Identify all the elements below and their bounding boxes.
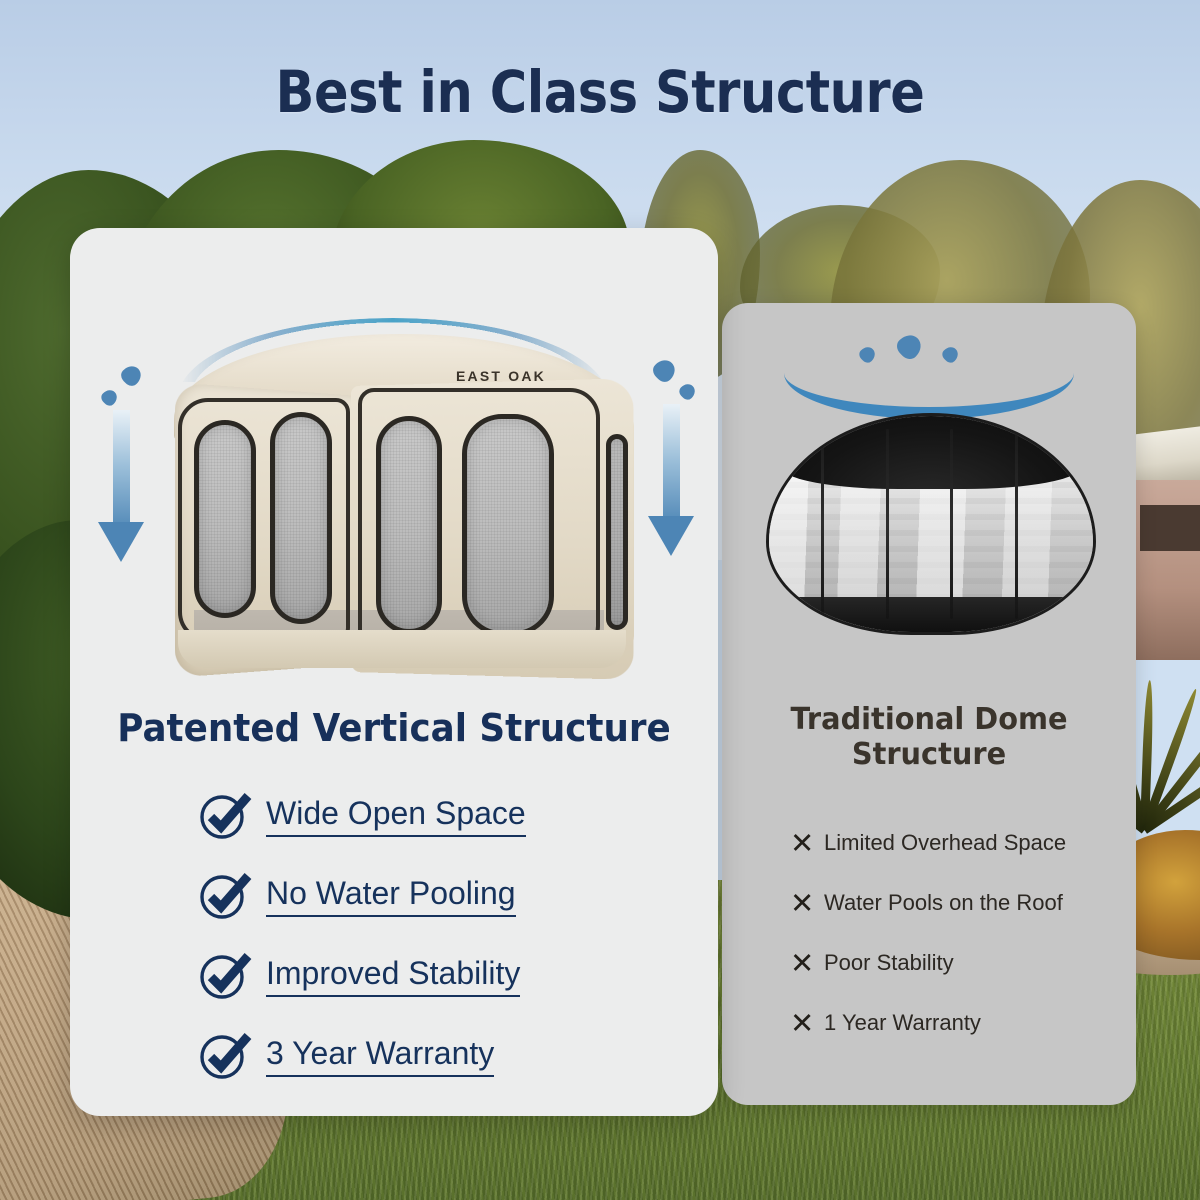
water-drop-icon (893, 330, 926, 363)
dome-rib (886, 429, 889, 619)
right-heading-line1: Traditional Dome (790, 702, 1067, 737)
drawback-label: Poor Stability (824, 950, 954, 976)
water-drop-icon (940, 344, 961, 365)
arrow-head (98, 522, 144, 562)
arrow-shaft (663, 404, 680, 526)
feature-label: 3 Year Warranty (266, 1035, 494, 1077)
dome-body (766, 413, 1096, 635)
list-item: ✕ Limited Overhead Space (790, 813, 1120, 873)
drawback-list: ✕ Limited Overhead Space ✕ Water Pools o… (790, 813, 1120, 1053)
feature-list: Wide Open Space No Water Pooling (198, 776, 668, 1096)
dome-rib (821, 429, 824, 619)
house-window (1140, 505, 1200, 551)
list-item: No Water Pooling (198, 856, 668, 936)
gazebo-tent-image: EAST OAK (166, 334, 636, 664)
dome-rib (1015, 429, 1018, 619)
right-card-heading: Traditional Dome Structure (751, 703, 1106, 773)
x-mark-icon: ✕ (790, 949, 824, 978)
list-item: Improved Stability (198, 936, 668, 1016)
tent-mesh-window (270, 412, 332, 624)
x-mark-icon: ✕ (790, 1009, 824, 1038)
water-drop-icon (650, 356, 680, 386)
right-height-arrow-icon (648, 404, 694, 566)
water-drop-icon (99, 387, 120, 408)
list-item: Wide Open Space (198, 776, 668, 856)
tent-mesh-window (194, 420, 256, 618)
brand-logo: EAST OAK (456, 368, 546, 384)
x-mark-icon: ✕ (790, 829, 824, 858)
left-height-arrow-icon (98, 410, 144, 572)
page-title: Best in Class Structure (72, 58, 1128, 126)
list-item: ✕ Poor Stability (790, 933, 1120, 993)
right-heading-line2: Structure (852, 737, 1006, 772)
drawback-label: Water Pools on the Roof (824, 890, 1063, 916)
feature-label: Improved Stability (266, 955, 520, 997)
list-item: 3 Year Warranty (198, 1016, 668, 1096)
list-item: ✕ Water Pools on the Roof (790, 873, 1120, 933)
dome-rib (950, 429, 953, 619)
check-circle-icon (198, 870, 254, 922)
tent-illustration: EAST OAK (70, 262, 718, 682)
list-item: ✕ 1 Year Warranty (790, 993, 1120, 1053)
drawback-label: Limited Overhead Space (824, 830, 1066, 856)
left-card-heading: Patented Vertical Structure (89, 706, 698, 750)
x-mark-icon: ✕ (790, 889, 824, 918)
feature-label: Wide Open Space (266, 795, 526, 837)
check-circle-icon (198, 1030, 254, 1082)
water-drop-icon (118, 362, 145, 389)
tent-mesh-window (376, 416, 442, 634)
check-circle-icon (198, 790, 254, 842)
dome-roof-panels (782, 416, 1080, 489)
traditional-dome-card: Traditional Dome Structure ✕ Limited Ove… (722, 303, 1136, 1105)
tent-mesh-window (606, 434, 628, 630)
water-drop-icon (857, 344, 878, 365)
water-drop-icon (677, 381, 698, 402)
infographic-canvas: Best in Class Structure (0, 0, 1200, 1200)
dome-illustration (722, 321, 1136, 651)
drawback-label: 1 Year Warranty (824, 1010, 981, 1036)
arrow-shaft (113, 410, 130, 532)
patented-structure-card: EAST OAK Patented Vertical Structure Wid… (70, 228, 718, 1116)
tent-mesh-window (462, 414, 554, 636)
check-circle-icon (198, 950, 254, 1002)
tent-skirt (178, 630, 626, 668)
dome-tent-image (766, 413, 1096, 635)
feature-label: No Water Pooling (266, 875, 516, 917)
arrow-head (648, 516, 694, 556)
